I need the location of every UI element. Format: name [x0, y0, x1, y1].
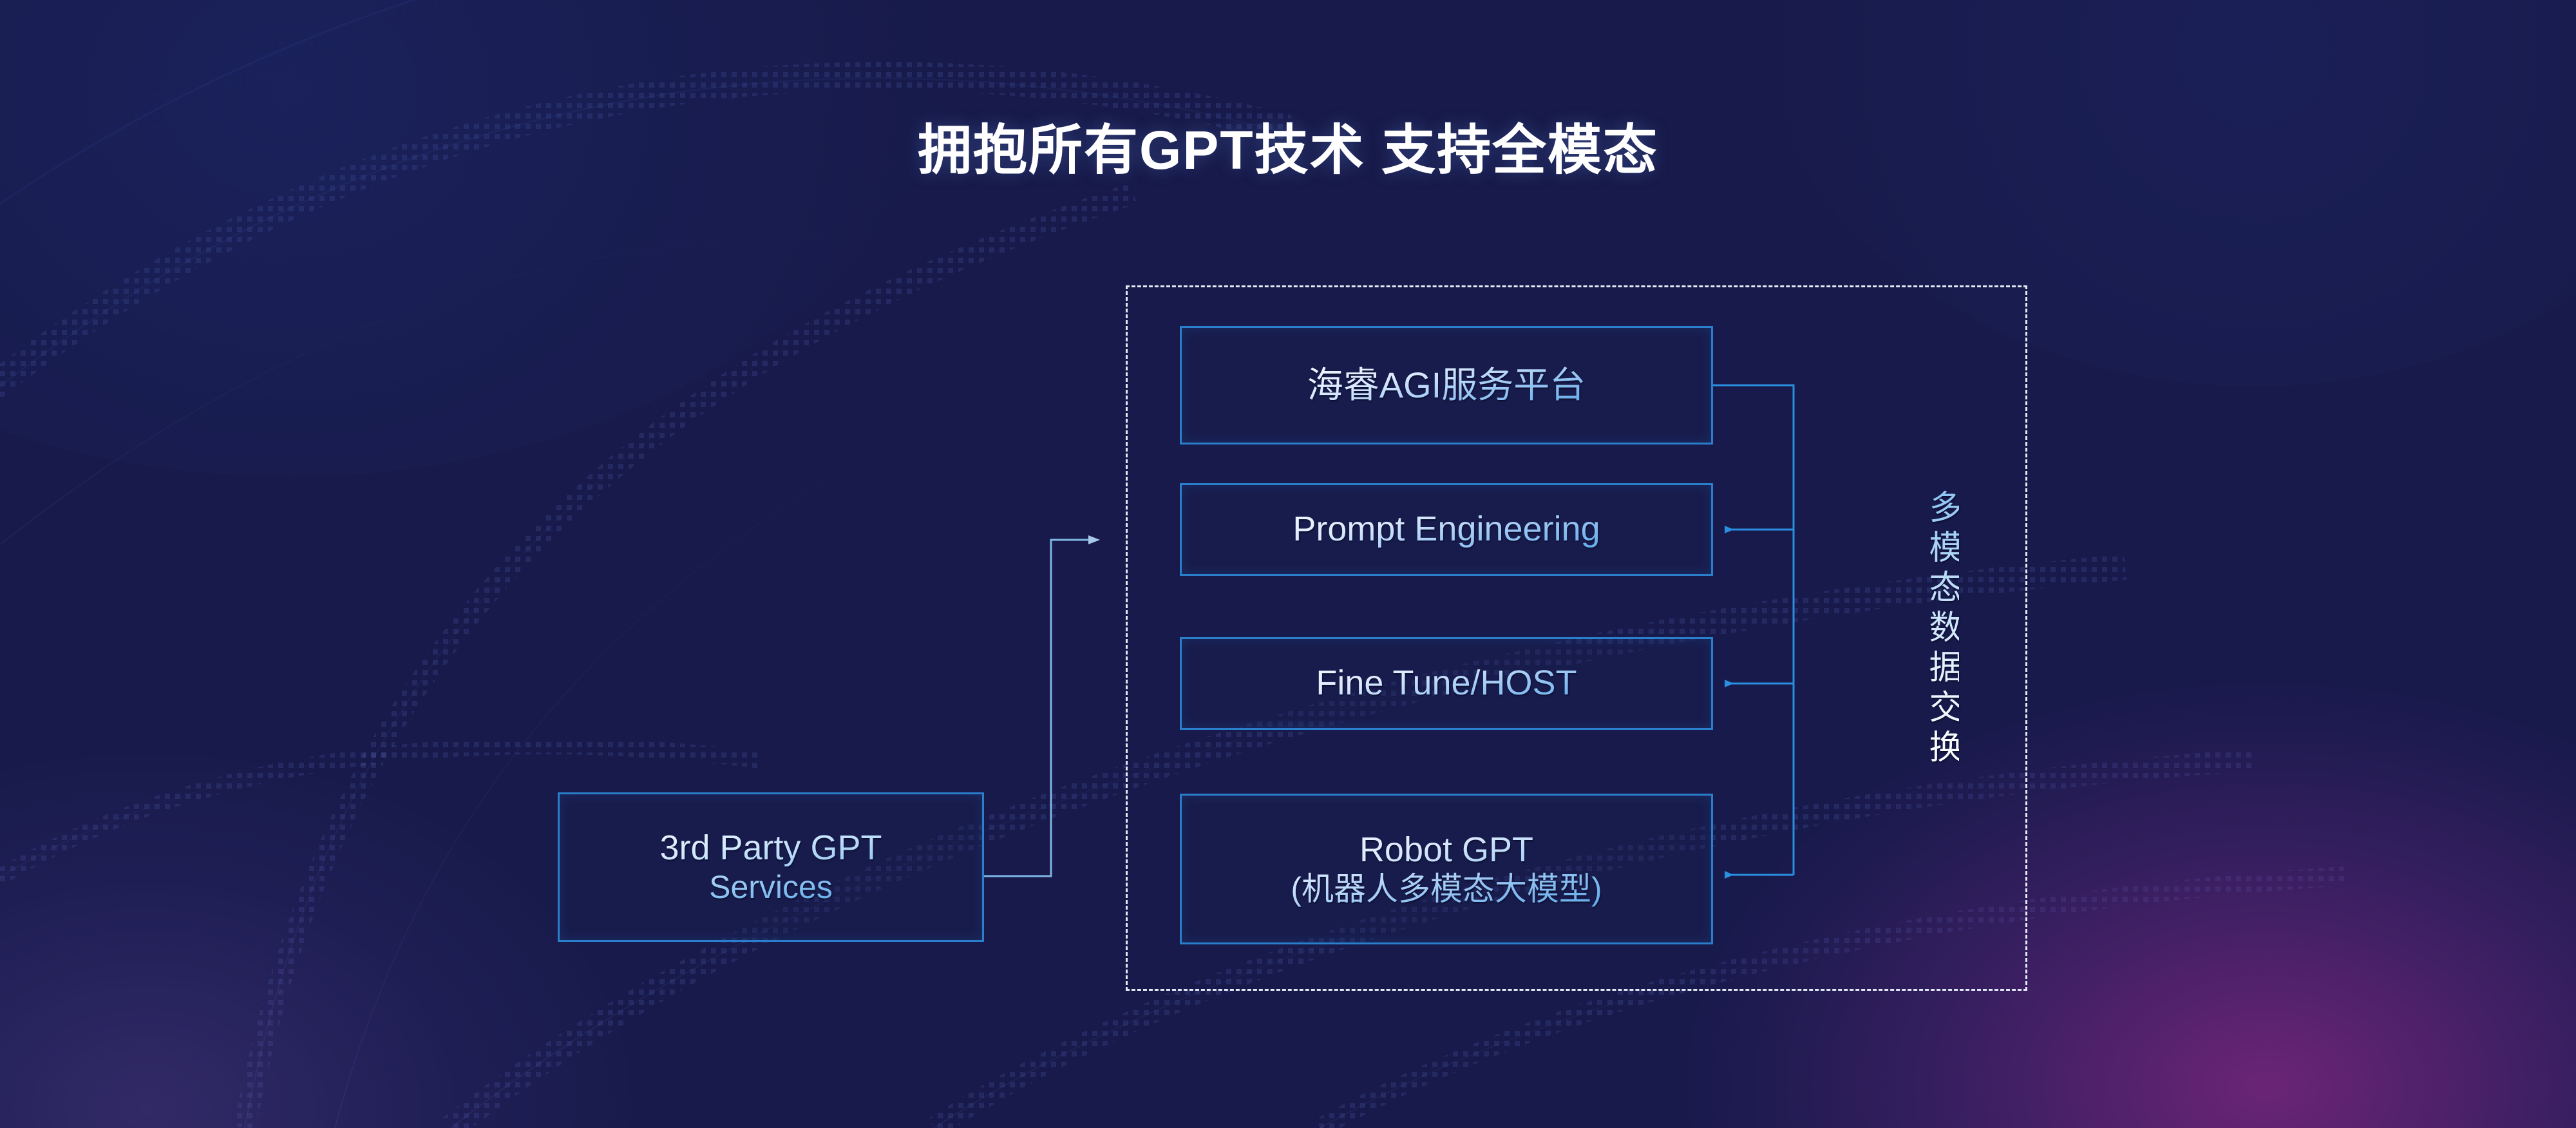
box-agi-platform-label: 海睿AGI服务平台 — [1298, 364, 1595, 406]
box-prompt-engineering-label: Prompt Engineering — [1283, 509, 1609, 550]
vertical-label-multimodal-data-exchange: 多模态数据交换 — [1914, 490, 1959, 769]
page-title: 拥抱所有GPT技术 支持全模态 — [0, 120, 2576, 180]
box-third-party-gpt-sublabel: Services — [659, 868, 882, 906]
box-third-party-gpt-label: 3rd Party GPT — [659, 828, 882, 867]
box-robot-gpt-label: Robot GPT — [1359, 830, 1533, 869]
box-robot-gpt[interactable]: Robot GPT (机器人多模态大模型) — [1180, 794, 1713, 944]
box-fine-tune-host[interactable]: Fine Tune/HOST — [1180, 637, 1713, 730]
box-robot-gpt-sublabel: (机器人多模态大模型) — [1291, 870, 1602, 908]
box-third-party-gpt[interactable]: 3rd Party GPT Services — [558, 792, 984, 942]
box-prompt-engineering[interactable]: Prompt Engineering — [1180, 483, 1713, 576]
box-fine-tune-host-label: Fine Tune/HOST — [1307, 663, 1586, 704]
box-third-party-gpt-text: 3rd Party GPT Services — [650, 828, 891, 907]
box-robot-gpt-text: Robot GPT (机器人多模态大模型) — [1282, 830, 1611, 909]
box-agi-platform[interactable]: 海睿AGI服务平台 — [1180, 326, 1713, 445]
